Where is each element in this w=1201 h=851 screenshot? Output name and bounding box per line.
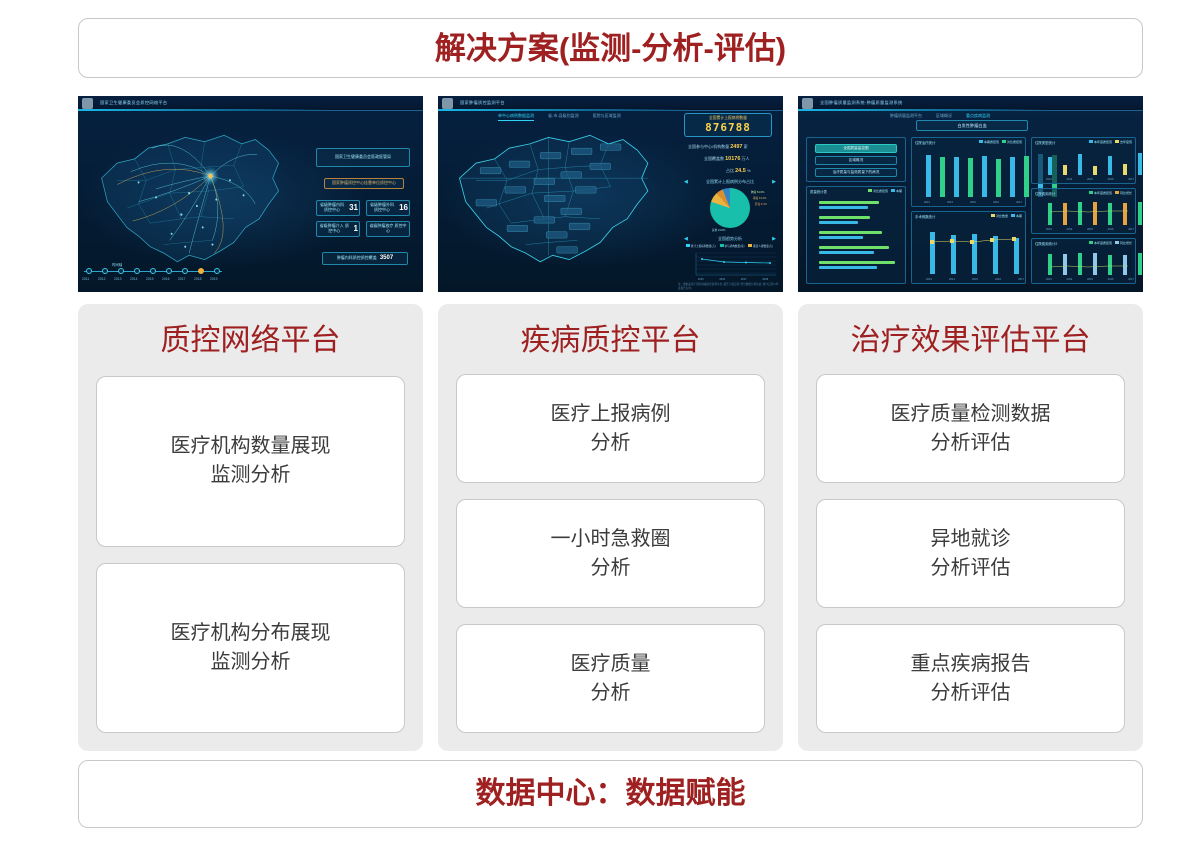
card-line-2: 分析 <box>551 554 671 583</box>
thumbnail-treatment-effect-evaluation[interactable]: 全国肿瘤质量监测系统-肿瘤质量监测系统 肿瘤质量监测平台 区域概况 重点疾病监测… <box>798 96 1143 292</box>
stat-line-centers-value: 2497 <box>730 144 742 150</box>
chart-footnote: 注：数据来源于国家肿瘤质控监测平台, 截至上报日期; 部分数据为预估值; 统计口… <box>678 283 780 291</box>
card-line-1: 医疗机构数量展现 <box>171 435 331 457</box>
total-cases-value: 876788 <box>705 121 751 134</box>
stat-line-centers: 全国参与中心/机构数量 2497 家 <box>688 144 748 150</box>
thumbnail-quality-control-network[interactable]: 国家卫生健康委员会质控网络平台 <box>78 96 423 292</box>
card-quality-detection-data[interactable]: 医疗质量检测数据 分析评估 <box>816 374 1125 483</box>
bar-x-axis: 2013 2014 2015 2016 2017 <box>1046 228 1134 231</box>
footer-stat-box: 肿瘤内科质控质控覆盖 3507 <box>322 252 408 265</box>
line-next-arrow[interactable]: ▶ <box>772 236 776 242</box>
panel-disease-quality-control: 疾病质控平台 医疗上报病例 分析 一小时急救圈 分析 医疗质量 <box>438 304 783 751</box>
bar-x-axis: 2013 2014 2015 2016 2017 <box>924 201 1022 204</box>
card-line-2: 监测分析 <box>171 648 331 677</box>
panel-title: 治疗效果评估平台 <box>816 326 1125 356</box>
stat-line-coverage-value: 10176 <box>725 156 740 162</box>
pie-label-1: 肺癌 54.6% <box>751 190 764 194</box>
china-map-outline <box>445 116 673 277</box>
timeline-node-2011[interactable] <box>86 268 92 274</box>
bar-x-axis: 2013 2014 2015 2016 2017 <box>926 278 1024 281</box>
card-medical-institution-distribution[interactable]: 医疗机构分布展现 监测分析 <box>96 563 405 734</box>
timeline-year-2019: 2019 <box>210 277 218 281</box>
chart-title: 住院费用统计2 <box>1035 241 1057 246</box>
filter-button-3[interactable]: 治疗质量与监测质量下的病况 <box>815 168 897 177</box>
timeline-year-2011: 2011 <box>82 277 89 281</box>
page-title: 解决方案(监测-分析-评估) <box>435 33 786 64</box>
trend-line-chart <box>688 251 776 281</box>
chart-title: 手术例数统计 <box>915 214 935 219</box>
filter-button-1[interactable]: 全国质量监控图 <box>815 144 897 153</box>
timeline-node-2015[interactable] <box>150 268 156 274</box>
dashboard-nav-title: 国家卫生健康委员会质控网络平台 <box>100 100 167 106</box>
timeline-control[interactable]: 时间轴 2011 2012 2013 2014 2015 2016 2017 2… <box>82 262 224 284</box>
china-map-outline <box>88 116 302 277</box>
timeline-node-2018[interactable] <box>198 268 204 274</box>
card-one-hour-emergency-circle[interactable]: 一小时急救圈 分析 <box>456 499 765 608</box>
chart-legend: 本年度质控值 同比增长 <box>1089 191 1132 195</box>
timeline-year-2016: 2016 <box>162 277 170 281</box>
stat-value-3: 1 <box>354 224 358 234</box>
map-callout-primary: 国家卫生健康委员会医政医管局 <box>316 148 410 167</box>
bar-group <box>1048 147 1143 175</box>
chart-cost-stats-1: 住院费用统计 本年度质控值 同比增长 2013 2014 <box>1031 188 1136 234</box>
chart-quality-stats: 质量统计表 对比质控值 本期 <box>806 186 906 284</box>
pie-next-arrow[interactable]: ▶ <box>772 179 776 185</box>
stat-line-ratio-value: 24.5 <box>735 168 746 174</box>
chart-legend: 本期质控值 对比质控值 <box>979 140 1022 144</box>
card-line-1: 一小时急救圈 <box>551 528 671 550</box>
dashboard-topbar: 国家卫生健康委员会质控网络平台 <box>78 96 423 111</box>
panel-title: 质控网络平台 <box>96 326 405 356</box>
pie-label-2: 胃癌 13.2% <box>753 196 766 200</box>
emblem-icon <box>442 98 453 109</box>
card-line-2: 分析评估 <box>891 429 1051 458</box>
filter-panel: 全国质量监控图 区域概况 治疗质量与监测质量下的病况 <box>806 137 906 182</box>
timeline-year-2012: 2012 <box>98 277 106 281</box>
stat-box-1: 省级肿瘤内科 质控中心 31 <box>316 200 360 216</box>
timeline-node-2012[interactable] <box>102 268 108 274</box>
timeline-node-2016[interactable] <box>166 268 172 274</box>
stat-value-1: 31 <box>349 203 358 213</box>
card-line-1: 医疗上报病例 <box>551 403 671 425</box>
card-line-2: 分析评估 <box>931 554 1011 583</box>
stat-line-coverage: 全国覆盖数 10176 万人 <box>704 156 750 162</box>
stat-box-4: 省级肿瘤放疗 质控中心 <box>366 221 410 237</box>
timeline-year-2015: 2015 <box>146 277 154 281</box>
chart-legend: 对比数量 本期 <box>991 214 1022 218</box>
card-line-2: 分析 <box>571 679 651 708</box>
dashboard-nav-title: 国家肿瘤质控监测平台 <box>460 100 505 106</box>
timeline-year-2017: 2017 <box>178 277 186 281</box>
total-cases-stat: 全国累计上报病例数量 876788 <box>684 113 772 137</box>
chart-cost-stats-2: 住院费用统计2 本年度质控值 同比增长 2013 2014 <box>1031 238 1136 284</box>
card-remote-treatment[interactable]: 异地就诊 分析评估 <box>816 499 1125 608</box>
chart-title: 质量统计表 <box>810 189 827 194</box>
card-key-disease-report[interactable]: 重点疾病报告 分析评估 <box>816 624 1125 733</box>
card-line-1: 医疗质量 <box>571 653 651 675</box>
card-medical-quality[interactable]: 医疗质量 分析 <box>456 624 765 733</box>
card-list: 医疗机构数量展现 监测分析 医疗机构分布展现 监测分析 <box>96 376 405 733</box>
dashboard-topbar: 全国肿瘤质量监测系统-肿瘤质量监测系统 <box>798 96 1143 111</box>
emblem-icon <box>82 98 93 109</box>
stat-value-2: 16 <box>399 203 408 213</box>
stat-box-2: 省级肿瘤外科 质控中心 16 <box>366 200 410 216</box>
map-callout-secondary: 国家肿瘤质控中心挂靠单位质控中心 <box>324 178 404 189</box>
timeline-node-2013[interactable] <box>118 268 124 274</box>
card-line-1: 异地就诊 <box>931 528 1011 550</box>
horizontal-bars <box>813 199 901 273</box>
card-list: 医疗质量检测数据 分析评估 异地就诊 分析评估 重点疾病报告 分析评估 <box>816 374 1125 733</box>
bar-x-axis: 2013 2014 2015 2016 2017 <box>1046 178 1134 181</box>
chart-legend: 对比质控值 本期 <box>868 189 902 193</box>
card-list: 医疗上报病例 分析 一小时急救圈 分析 医疗质量 分析 <box>456 374 765 733</box>
dashboard-nav-title: 全国肿瘤质量监测系统-肿瘤质量监测系统 <box>820 100 902 106</box>
pie-label-3: 肝癌 8.4% <box>755 202 767 206</box>
card-line-2: 监测分析 <box>171 461 331 490</box>
timeline-year-2018: 2018 <box>194 277 202 281</box>
line-title: 全国趋势分析 <box>684 236 776 242</box>
emblem-icon <box>802 98 813 109</box>
timeline-year-2014: 2014 <box>130 277 138 281</box>
card-line-1: 医疗质量检测数据 <box>891 403 1051 425</box>
chart-surgery-count: 手术例数统计 对比数量 本期 2013 <box>911 211 1026 284</box>
chart-admission-type: 住院类型统计 本年度质控值 去年度值 2013 2014 2015 2016 <box>1031 137 1136 184</box>
card-medical-institution-count[interactable]: 医疗机构数量展现 监测分析 <box>96 376 405 547</box>
solution-architecture-diagram: 解决方案(监测-分析-评估) 国家卫生健康委员会质控网络平台 <box>0 0 1201 851</box>
chart-title: 住院费用统计 <box>1035 191 1055 196</box>
chart-inpatient-stats: 住院治疗统计 本期质控值 对比质控值 2013 2014 2015 2016 <box>911 137 1026 207</box>
card-line-2: 分析评估 <box>911 679 1031 708</box>
panel-quality-control-network: 质控网络平台 医疗机构数量展现 监测分析 医疗机构分布展现 监测分析 <box>78 304 423 751</box>
card-line-2: 分析 <box>551 429 671 458</box>
header-banner: 解决方案(监测-分析-评估) <box>78 18 1143 78</box>
pie-chart <box>710 188 750 228</box>
dashboard-page-title: 白发性肿瘤白血 <box>916 120 1028 131</box>
thumbnail-disease-quality-control[interactable]: 国家肿瘤质控监测平台 单中心病例数据监测 省-市-县级别监测 医院与区域监测 <box>438 96 783 292</box>
dashboard-thumbnail-row: 国家卫生健康委员会质控网络平台 <box>78 96 1143 292</box>
chart-title: 住院治疗统计 <box>915 140 935 145</box>
panel-treatment-effect-evaluation: 治疗效果评估平台 医疗质量检测数据 分析评估 异地就诊 分析评估 <box>798 304 1143 751</box>
line-x-axis: 2015 2016 2017 2018 <box>690 278 776 281</box>
panel-title: 疾病质控平台 <box>456 326 765 356</box>
bar-x-axis: 2013 2014 2015 2016 2017 <box>1046 278 1134 281</box>
card-reported-cases[interactable]: 医疗上报病例 分析 <box>456 374 765 483</box>
timeline-node-2019[interactable] <box>214 268 220 274</box>
filter-button-2[interactable]: 区域概况 <box>815 156 897 165</box>
timeline-year-2013: 2013 <box>114 277 122 281</box>
chart-legend: 本年度质控值 同比增长 <box>1089 241 1132 245</box>
chart-title: 住院类型统计 <box>1035 140 1055 145</box>
timeline-label: 时间轴 <box>112 262 122 267</box>
timeline-node-2017[interactable] <box>182 268 188 274</box>
pie-label-4: 其他 23.8% <box>712 228 725 232</box>
footer-stat-value: 3507 <box>380 255 393 262</box>
card-line-1: 医疗机构分布展现 <box>171 622 331 644</box>
timeline-node-2014[interactable] <box>134 268 140 274</box>
stat-box-3: 省级肿瘤介入 质控中心 1 <box>316 221 360 237</box>
line-legend: 累计上报病例数量(万) 参与机构数量(家) 覆盖人群数量(万) <box>686 244 773 248</box>
pie-title: 全国累计上报病例分布占比 <box>684 179 776 185</box>
stat-line-ratio: 占比 24.5 % <box>726 168 751 174</box>
footer-banner: 数据中心：数据赋能 <box>78 760 1143 828</box>
dashboard-topbar: 国家肿瘤质控监测平台 <box>438 96 783 111</box>
chart-legend: 本年度质控值 去年度值 <box>1089 140 1132 144</box>
footer-title: 数据中心：数据赋能 <box>476 779 746 809</box>
card-line-1: 重点疾病报告 <box>911 653 1031 675</box>
platform-panel-row: 质控网络平台 医疗机构数量展现 监测分析 医疗机构分布展现 监测分析 疾病质控平… <box>78 304 1143 751</box>
